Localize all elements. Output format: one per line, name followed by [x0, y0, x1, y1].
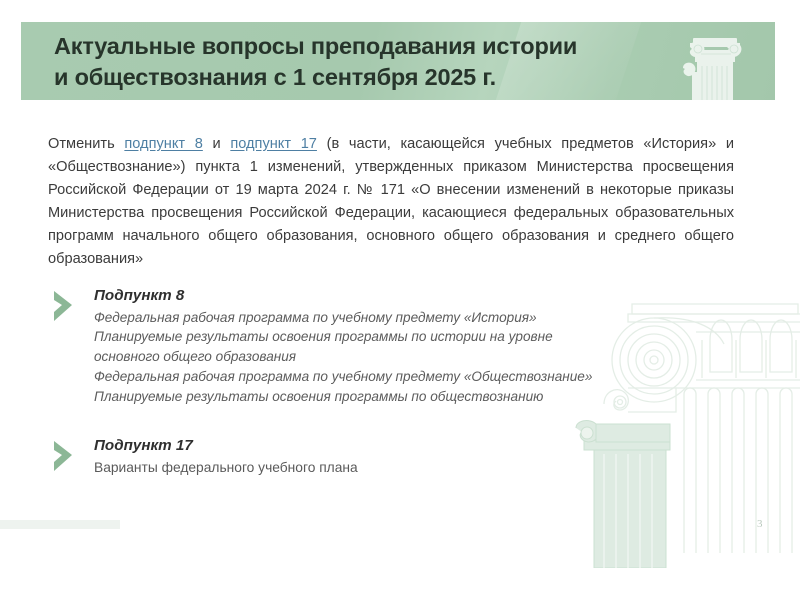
chevron-right-icon — [52, 290, 78, 322]
page-number: 3 — [757, 518, 763, 530]
link-subclause-17[interactable]: подпункт 17 — [230, 136, 317, 152]
block-lines: Федеральная рабочая программа по учебном… — [94, 308, 662, 408]
block-heading: Подпункт 17 — [94, 436, 662, 457]
link-subclause-8[interactable]: подпункт 8 — [124, 136, 202, 152]
intro-paragraph: Отменить подпункт 8 и подпункт 17 (в час… — [48, 133, 734, 271]
intro-between: и — [203, 136, 230, 152]
slide-header-band: Актуальные вопросы преподавания истории … — [21, 22, 775, 100]
block-subclause-17: Подпункт 17 Варианты федерального учебно… — [52, 436, 662, 478]
presentation-slide: Актуальные вопросы преподавания истории … — [0, 0, 800, 600]
block-subclause-8: Подпункт 8 Федеральная рабочая программа… — [52, 286, 662, 407]
block-lines: Варианты федерального учебного плана — [94, 458, 662, 478]
intro-prefix: Отменить — [48, 136, 124, 152]
intro-suffix: (в части, касающейся учебных предметов «… — [48, 136, 734, 267]
ionic-column-icon — [677, 28, 747, 100]
page-title: Актуальные вопросы преподавания истории … — [54, 31, 654, 94]
chevron-right-icon — [52, 440, 78, 472]
decorative-band-shadow — [0, 520, 120, 529]
block-heading: Подпункт 8 — [94, 286, 662, 307]
